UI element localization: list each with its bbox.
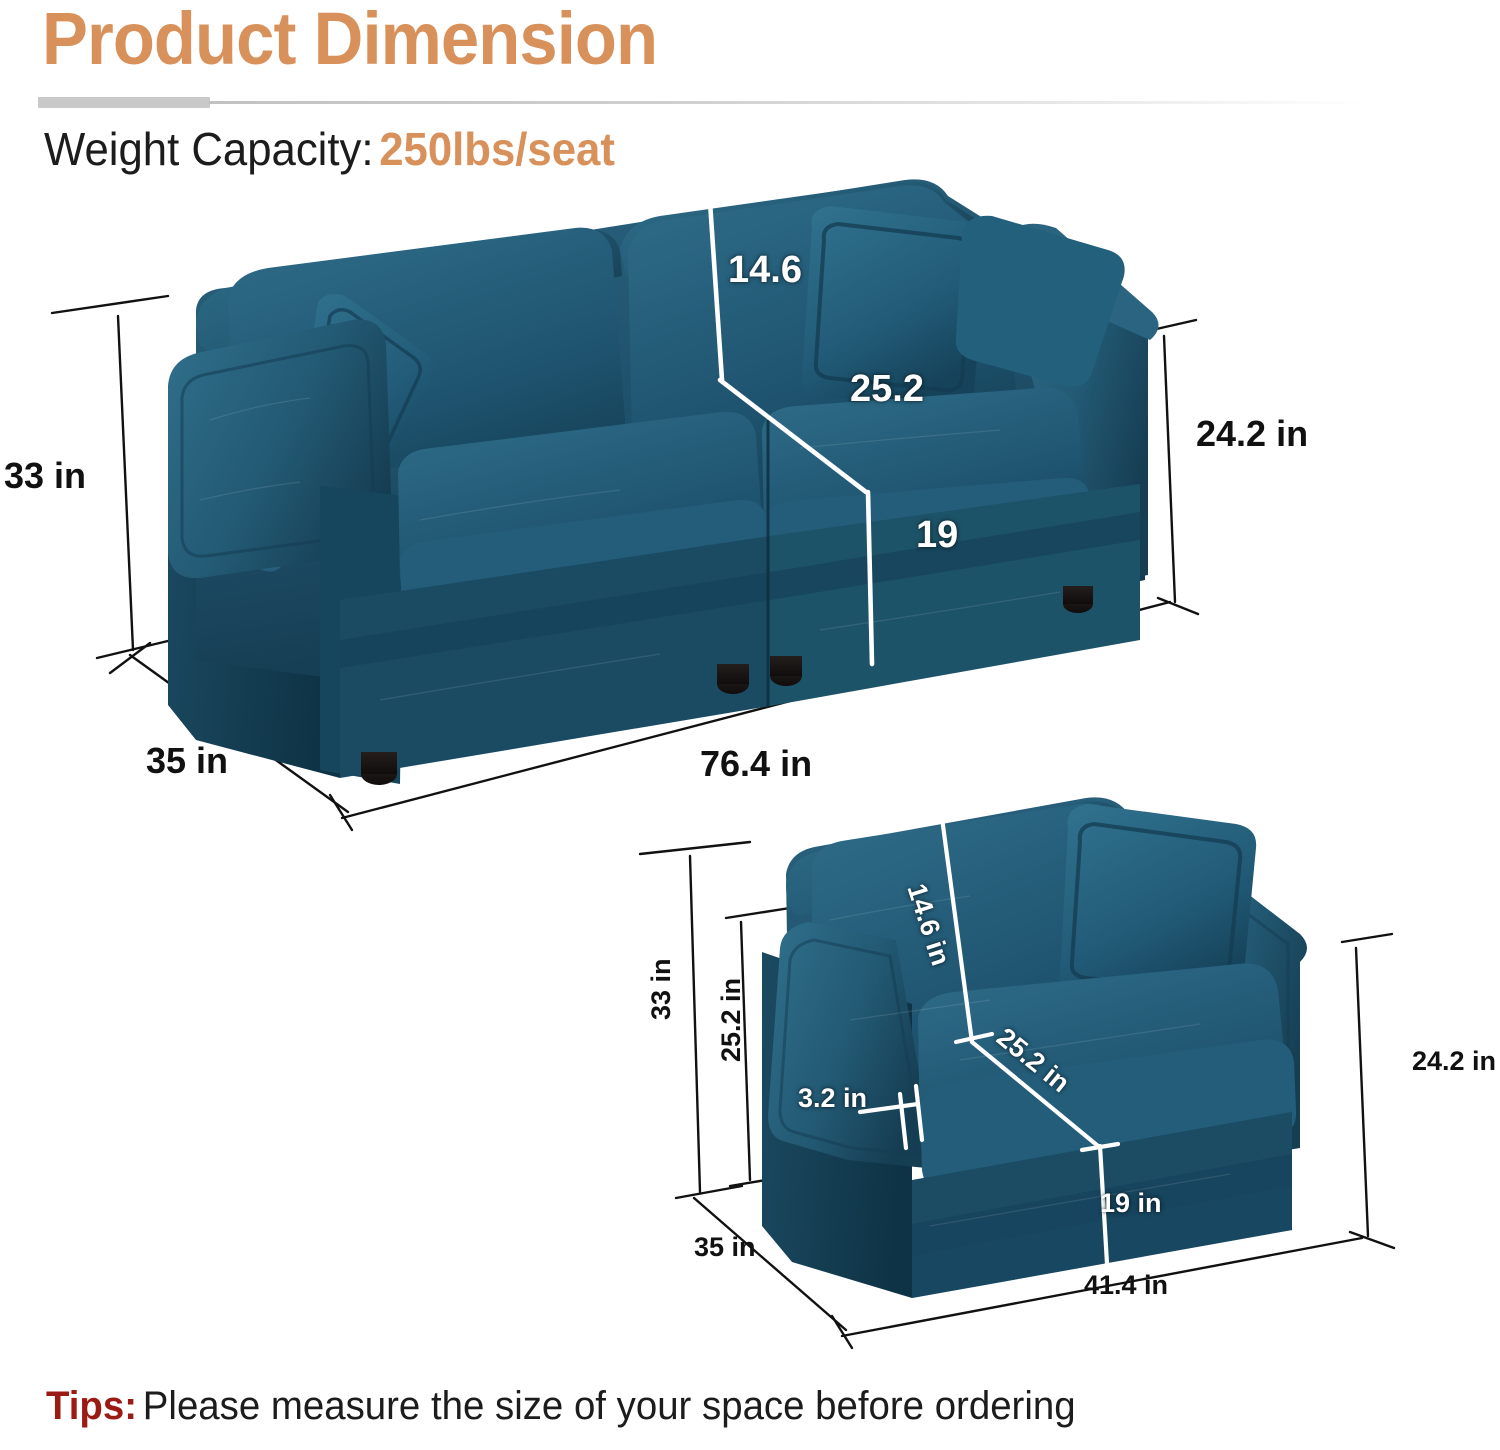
tips-label: Tips: [46, 1384, 137, 1428]
chair-width-label: 41.4 in [1084, 1270, 1168, 1301]
chair-height-label: 33 in [646, 958, 677, 1020]
tips-line: Tips:Please measure the size of your spa… [46, 1384, 1076, 1429]
page-title: Product Dimension [42, 0, 657, 81]
sofa-illustration [168, 179, 1159, 785]
title-divider [38, 96, 1438, 110]
chair-back-cushion-height-label: 14.6 in [901, 880, 956, 970]
chair-inner-measure-lines [860, 818, 1124, 1282]
chair-back-height-label: 24.2 in [1412, 1046, 1496, 1077]
sofa-leg [770, 666, 802, 686]
chair-arm-height-label: 25.2 in [716, 978, 747, 1062]
sofa-leg [1063, 595, 1093, 613]
chair-depth-label: 35 in [694, 1232, 756, 1263]
tips-text: Please measure the size of your space be… [143, 1384, 1076, 1428]
header: Product Dimension Weight Capacity:250lbs… [0, 0, 1500, 190]
chair-seat-depth-label: 25.2 in [990, 1022, 1075, 1099]
weight-capacity-value: 250lbs/seat [379, 123, 615, 175]
chair-dimension-lines [640, 842, 1394, 1348]
sofa-leg [361, 763, 397, 785]
chair-seat-height-label: 19 in [1100, 1188, 1162, 1219]
sofa-leg [717, 674, 749, 694]
sofa-seat-depth-label: 25.2 [850, 368, 924, 411]
weight-capacity-label: Weight Capacity: [44, 123, 374, 175]
chair-arm-width-label: 3.2 in [798, 1083, 867, 1114]
divider-thick-segment [38, 97, 210, 108]
weight-capacity-line: Weight Capacity:250lbs/seat [44, 122, 615, 176]
sofa-depth-label: 35 in [146, 740, 228, 782]
divider-thin-line [208, 101, 1368, 104]
sofa-width-label: 76.4 in [700, 743, 812, 785]
sofa-back-height-label: 24.2 in [1196, 413, 1308, 455]
sofa-height-label: 33 in [4, 455, 86, 497]
sofa-back-cushion-height-label: 14.6 [728, 249, 802, 292]
sofa-seat-height-label: 19 [916, 514, 958, 557]
